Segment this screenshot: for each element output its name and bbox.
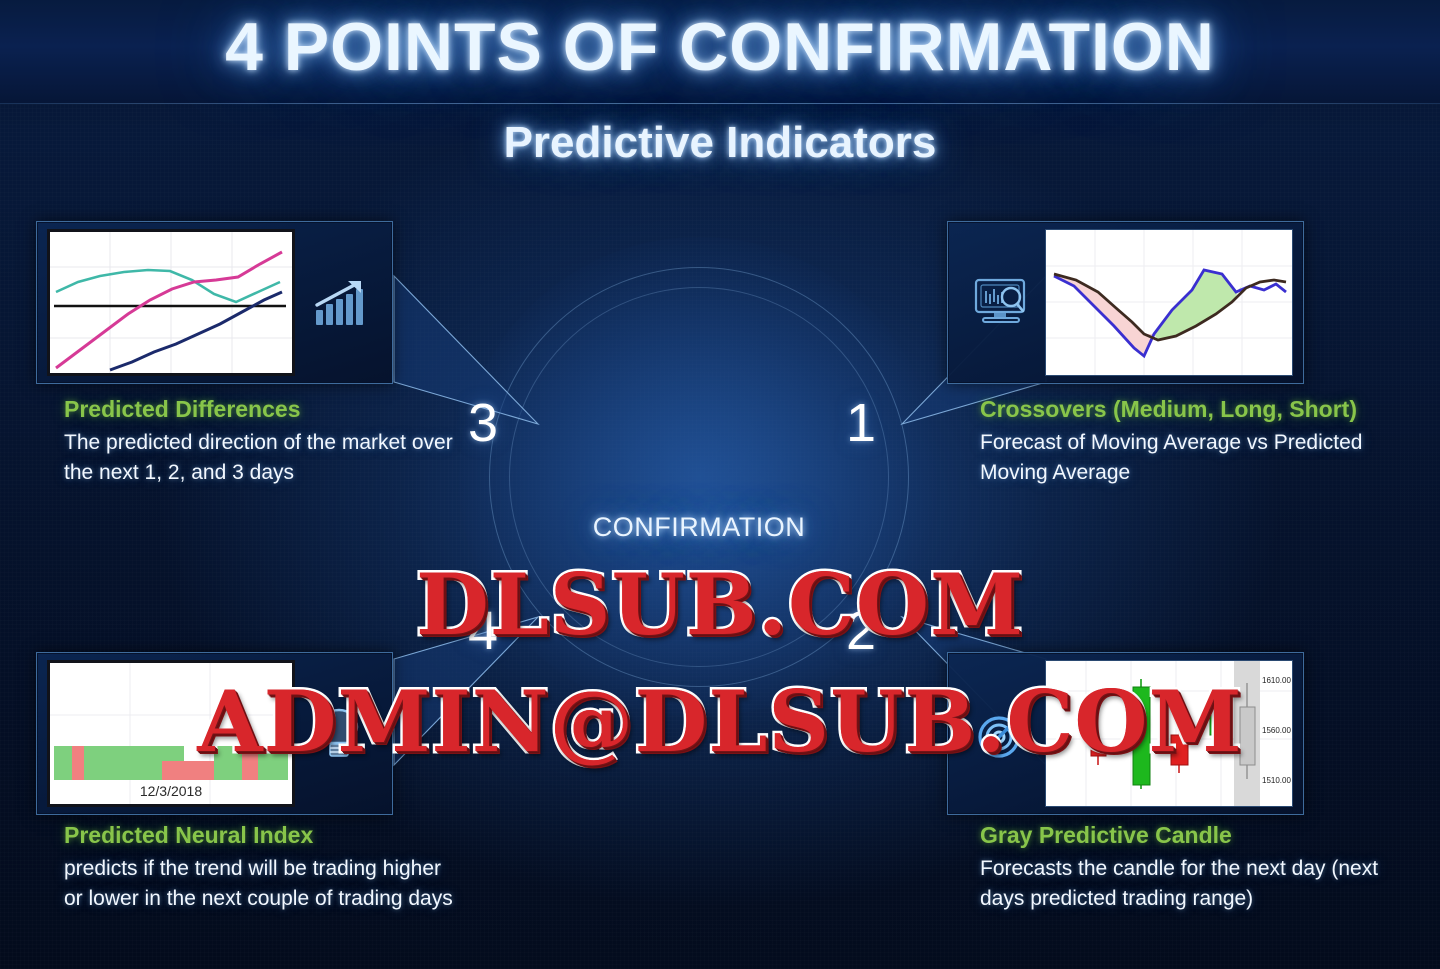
caption-gray-predictive-candle: Gray Predictive Candle Forecasts the can… [980, 822, 1380, 915]
caption-body: Forecast of Moving Average vs Predicted … [980, 428, 1420, 489]
caption-crossovers: Crossovers (Medium, Long, Short) Forecas… [980, 396, 1420, 489]
caption-body: predicts if the trend will be trading hi… [64, 854, 464, 915]
svg-text:1510.00: 1510.00 [1262, 776, 1291, 785]
caption-predicted-neural-index: Predicted Neural Index predicts if the t… [64, 822, 464, 915]
caption-body: The predicted direction of the market ov… [64, 428, 464, 489]
caption-title: Crossovers (Medium, Long, Short) [980, 396, 1420, 423]
watermark-site-fill: DLSUB.COM [0, 555, 1440, 654]
caption-body: Forecasts the candle for the next day (n… [980, 854, 1380, 915]
chart-predicted-differences [47, 229, 295, 376]
caption-title: Gray Predictive Candle [980, 822, 1380, 849]
chart-crossovers [1045, 229, 1293, 376]
infographic-canvas: 4 POINTS OF CONFIRMATION Predictive Indi… [0, 0, 1440, 969]
hub-number-top-right: 1 [846, 392, 876, 454]
panel-predicted-differences[interactable] [36, 221, 393, 384]
page-subtitle: Predictive Indicators [0, 118, 1440, 168]
caption-predicted-differences: Predicted Differences The predicted dire… [64, 396, 464, 489]
hub-number-top-left: 3 [468, 392, 498, 454]
page-title: 4 POINTS OF CONFIRMATION [0, 8, 1440, 86]
neural-index-date: 12/3/2018 [140, 783, 202, 799]
panel-crossovers[interactable] [947, 221, 1304, 384]
confirmation-label: Confirmation [459, 503, 939, 546]
monitor-chart-icon [958, 277, 1045, 329]
bar-chart-up-icon [295, 278, 382, 328]
caption-title: Predicted Differences [64, 396, 464, 423]
caption-title: Predicted Neural Index [64, 822, 464, 849]
watermark-email-fill: ADMIN@DLSUB.COM [0, 672, 1440, 771]
